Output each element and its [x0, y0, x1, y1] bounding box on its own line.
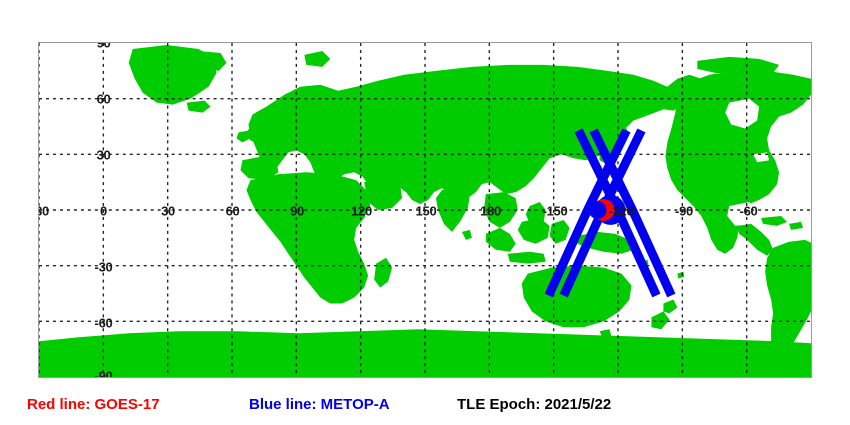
lon-tick-label-m120: -120 — [609, 205, 634, 218]
lon-tick-label-150: 150 — [416, 205, 437, 218]
lat-tick-label-60n: 60 — [97, 93, 111, 106]
lon-tick-label-60: 60 — [226, 205, 240, 218]
land-java — [508, 252, 546, 264]
lon-tick-label-m30: -30 — [38, 205, 49, 218]
lon-tick-label-30: 30 — [161, 205, 175, 218]
world-map-panel: -30 0 30 60 90 120 150 180 -150 -120 -90… — [38, 42, 812, 378]
map-legend: Red line: GOES-17 Blue line: METOP-A TLE… — [0, 392, 850, 425]
lat-tick-label-30n: 30 — [97, 149, 111, 162]
lat-tick-label-30s: -30 — [95, 261, 113, 274]
lon-tick-label-m150: -150 — [543, 205, 568, 218]
lon-tick-label-120: 120 — [351, 205, 372, 218]
legend-metop-a: Blue line: METOP-A — [249, 397, 390, 412]
legend-tle-epoch: TLE Epoch: 2021/5/22 — [457, 397, 611, 412]
lon-tick-label-m60: -60 — [740, 205, 758, 218]
metop-a-marker-overlap — [589, 201, 607, 219]
lat-tick-label-60s: -60 — [95, 317, 113, 330]
lat-tick-label-90s: -90 — [95, 370, 113, 379]
lon-tick-label-0: 0 — [100, 205, 107, 218]
lon-tick-label-m90: -90 — [675, 205, 693, 218]
lon-tick-label-180: 180 — [480, 205, 501, 218]
satellite-track-map-page: -30 0 30 60 90 120 150 180 -150 -120 -90… — [0, 0, 850, 425]
lon-tick-label-90: 90 — [290, 205, 304, 218]
lat-tick-label-90n: 90 — [97, 42, 111, 50]
legend-goes17: Red line: GOES-17 — [27, 397, 160, 412]
